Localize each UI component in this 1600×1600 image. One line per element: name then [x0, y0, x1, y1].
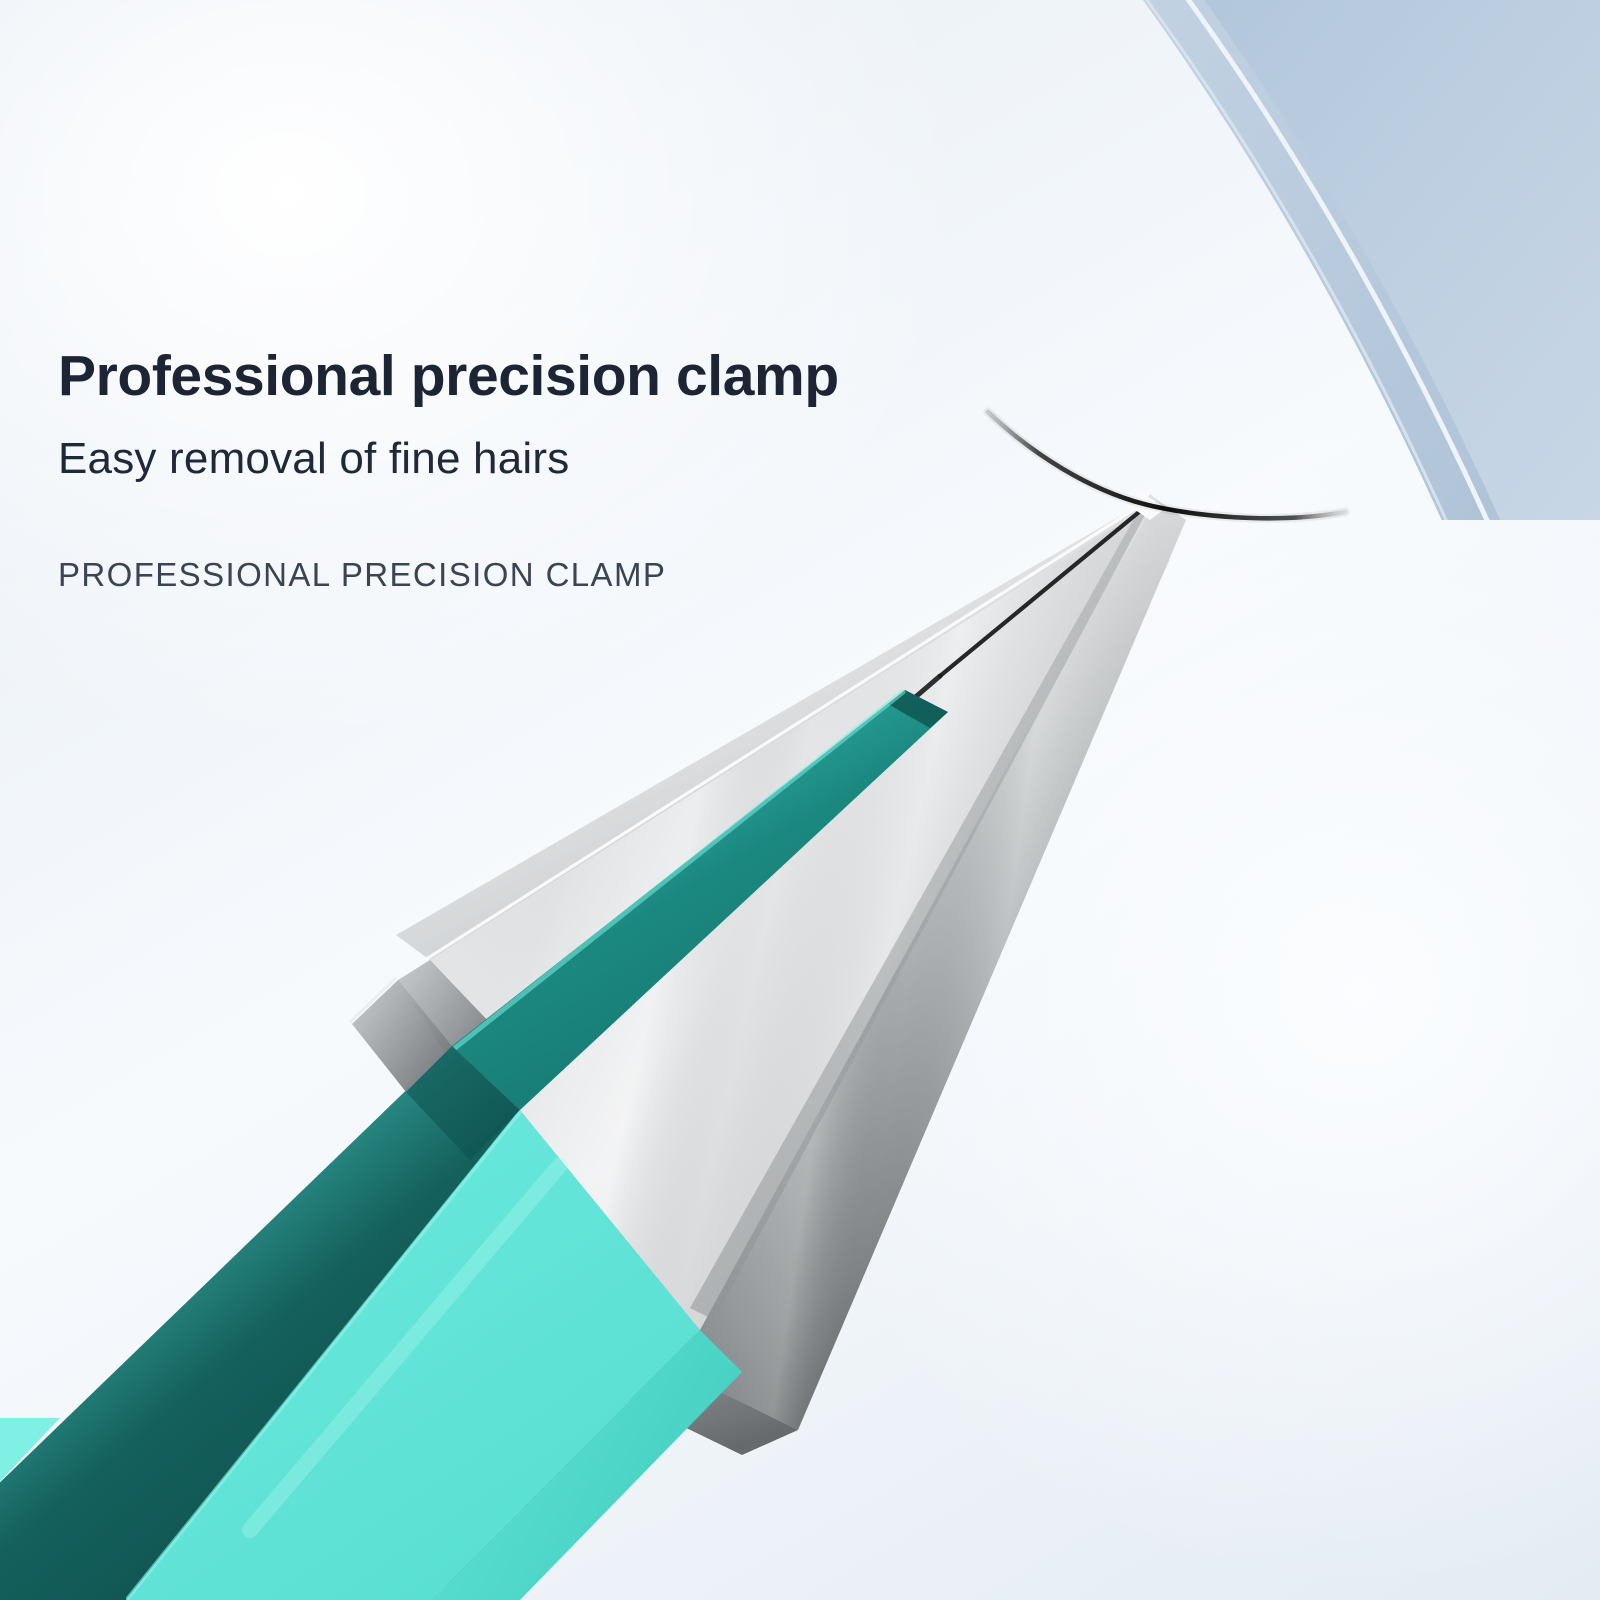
page-title: Professional precision clamp	[58, 345, 1058, 408]
tweezers-illustration	[0, 0, 1600, 1600]
product-image-canvas: Professional precision clamp Easy remova…	[0, 0, 1600, 1600]
copy-block: Professional precision clamp Easy remova…	[58, 345, 1058, 594]
page-caption: PROFESSIONAL PRECISION CLAMP	[58, 556, 1058, 594]
page-subtitle: Easy removal of fine hairs	[58, 434, 1058, 485]
